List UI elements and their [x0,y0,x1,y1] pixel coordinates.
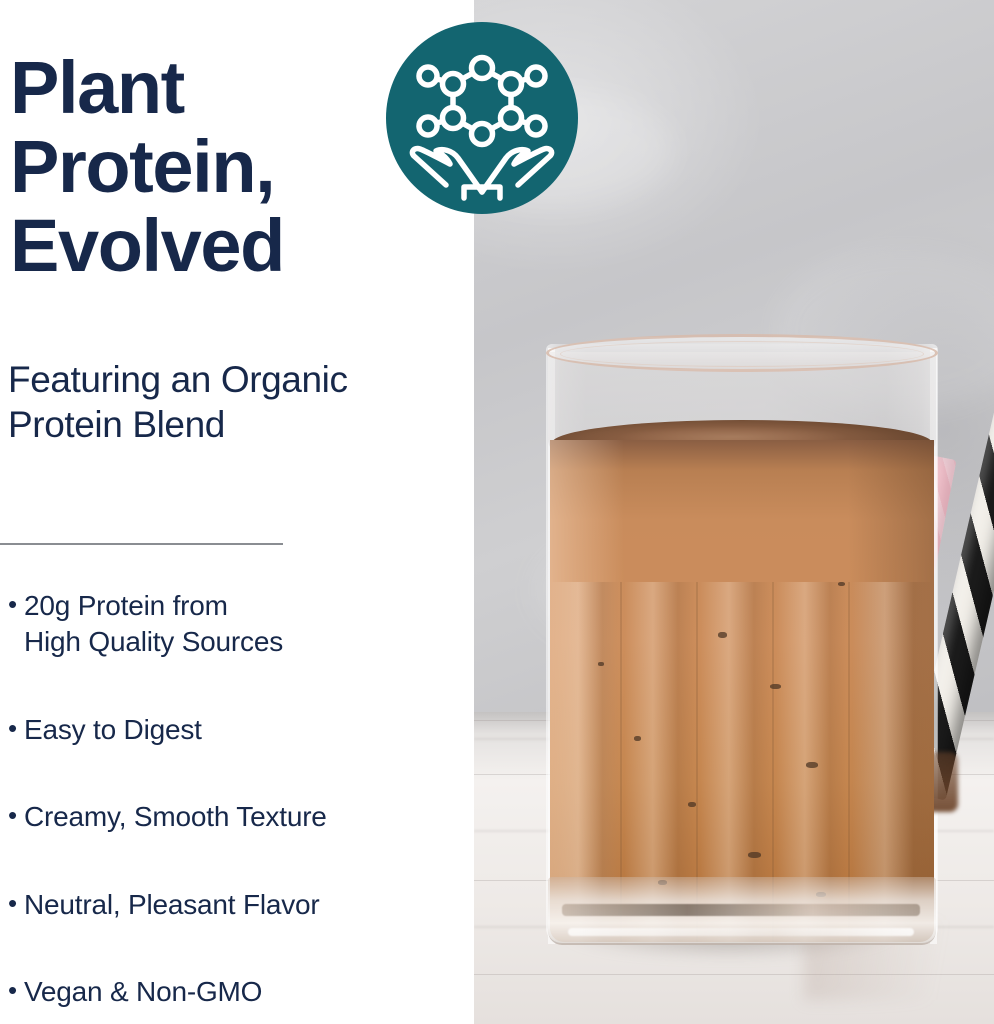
page-title: Plant Protein, Evolved [10,48,440,286]
list-item-label: 20g Protein from High Quality Sources [24,588,283,661]
bullet-marker-icon: • [8,799,24,832]
page-subtitle: Featuring an Organic Protein Blend [8,358,408,448]
list-item: • Neutral, Pleasant Flavor [8,887,468,923]
bullet-marker-icon: • [8,588,24,621]
list-item-label: Creamy, Smooth Texture [24,799,327,835]
bullet-marker-icon: • [8,887,24,920]
list-item-label: Neutral, Pleasant Flavor [24,887,320,923]
list-item: • 20g Protein from High Quality Sources [8,588,468,661]
bullet-marker-icon: • [8,712,24,745]
list-item-label: Vegan & Non-GMO [24,974,262,1010]
list-item: • Creamy, Smooth Texture [8,799,468,835]
bullet-marker-icon: • [8,974,24,1007]
glass-rim-inner [560,341,924,367]
molecule-in-hands-icon [386,22,578,214]
product-feature-graphic: Plant Protein, Evolved Featuring an Orga… [0,0,994,1024]
smoothie-glass [538,332,946,952]
feature-bullet-list: • 20g Protein from High Quality Sources … [8,588,468,1024]
list-item: • Easy to Digest [8,712,468,748]
list-item-label: Easy to Digest [24,712,202,748]
list-item: • Vegan & Non-GMO [8,974,468,1010]
brand-badge [386,22,578,214]
section-divider [0,543,283,545]
